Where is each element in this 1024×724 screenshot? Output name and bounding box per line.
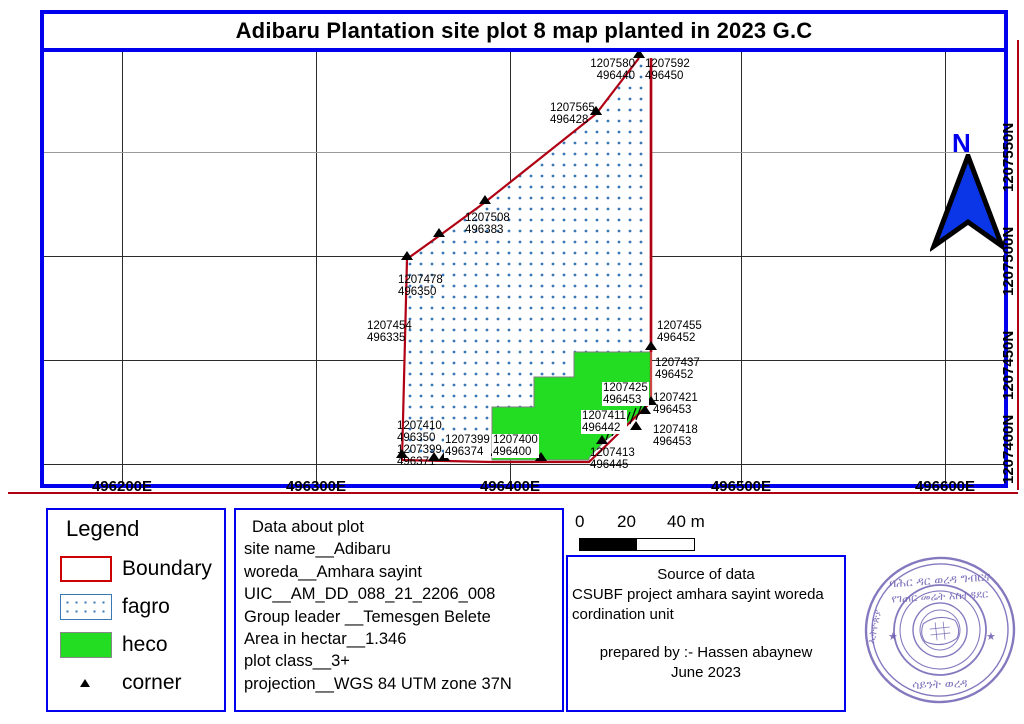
plot-data-line: Area in hectar__1.346 (244, 628, 562, 650)
legend-item-boundary[interactable]: Boundary (60, 556, 212, 582)
vertex-label: 1207411496442 (581, 410, 627, 434)
plot-data-line: UIC__AM_DD_088_21_2206_008 (244, 583, 562, 605)
legend-panel: Legend Boundary fagro heco corner (46, 508, 226, 712)
scale-bar: 0 20 40 m (575, 512, 755, 558)
corner-marker-icon (433, 228, 445, 237)
legend-item-label: Boundary (122, 557, 212, 581)
plot-polygons (44, 52, 1004, 484)
corner-marker-icon (639, 405, 651, 414)
plot-data-line: projection__WGS 84 UTM zone 37N (244, 673, 562, 695)
legend-title: Legend (66, 516, 139, 542)
corner-marker-icon (479, 195, 491, 204)
svg-text:★: ★ (986, 630, 996, 643)
source-panel: Source of data CSUBF project amhara sayi… (566, 555, 846, 712)
vertex-label: 1207592496450 (644, 58, 691, 82)
map-title-bar: Adibaru Plantation site plot 8 map plant… (44, 14, 1004, 52)
y-axis-tick: 1207450N (1000, 331, 1017, 400)
plot-data-line: Group leader __Temesgen Belete (244, 606, 562, 628)
source-line: CSUBF project amhara sayint woreda (572, 585, 840, 605)
plot-data-heading: Data about plot (244, 516, 562, 538)
scale-bar-segment (580, 539, 637, 550)
vertex-label: 1207454496335 (366, 320, 413, 344)
layout-rule-right (1017, 40, 1019, 490)
y-axis-tick: 1207550N (1000, 123, 1017, 192)
plot-data-line: site name__Adibaru (244, 538, 562, 560)
vertex-label: 1207425496453 (602, 382, 649, 406)
legend-item-heco[interactable]: heco (60, 632, 168, 658)
vertex-label: 1207437496452 (654, 357, 701, 381)
corner-marker-icon (630, 421, 642, 430)
scale-bar-graphic (579, 538, 695, 551)
scale-bar-segment (637, 539, 694, 550)
vertex-label: 1207418496453 (652, 424, 699, 448)
north-arrow: N (930, 132, 1004, 252)
map-canvas[interactable]: 1207592496450 1207580496440 120756549642… (44, 52, 1004, 484)
svg-text:★: ★ (888, 630, 898, 643)
prepared-by: prepared by :- Hassen abaynew (572, 643, 840, 663)
scale-tick-20: 20 (617, 512, 636, 532)
vertex-label: 1207565496428 (549, 102, 596, 126)
vertex-label: 1207399496371 (396, 444, 443, 468)
heco-swatch (60, 632, 112, 658)
vertex-label: 1207580496440 (544, 58, 636, 82)
prepared-date: June 2023 (572, 663, 840, 683)
source-heading: Source of data (572, 565, 840, 585)
legend-item-corner[interactable]: corner (60, 670, 182, 696)
legend-item-label: heco (122, 633, 168, 657)
scale-tick-0: 0 (575, 512, 584, 532)
plot-data-line: woreda__Amhara sayint (244, 561, 562, 583)
corner-marker-icon (60, 670, 112, 696)
vertex-label: 1207399496374 (444, 434, 491, 458)
source-line: cordination unit (572, 605, 840, 625)
plot-data-line: plot class__3+ (244, 650, 562, 672)
legend-item-label: corner (122, 671, 182, 695)
legend-item-label: fagro (122, 595, 170, 619)
corner-marker-icon (596, 435, 608, 444)
y-axis-tick: 1207400N (1000, 415, 1017, 484)
fagro-swatch (60, 594, 112, 620)
corner-marker-icon (401, 251, 413, 260)
official-seal-stamp: ባሕር ዳር ወረዳ ግብርና የገጠር መሬት አስተዳደር ሳይንት ወረዳ… (858, 548, 1022, 712)
vertex-label: 1207478496350 (397, 274, 444, 298)
svg-text:የገጠር መሬት አስተዳደር: የገጠር መሬት አስተዳደር (891, 587, 988, 605)
vertex-label: 1207413496445 (589, 447, 636, 471)
vertex-label: 1207508496383 (464, 212, 511, 236)
legend-item-fagro[interactable]: fagro (60, 594, 170, 620)
layout-rule-bottom (8, 492, 1018, 494)
vertex-label: 1207410496350 (396, 420, 443, 444)
svg-text:ሳይንት ወረዳ: ሳይንት ወረዳ (912, 676, 968, 692)
vertex-label: 1207400496400 (492, 434, 539, 458)
boundary-swatch (60, 556, 112, 582)
vertex-label: 1207455496452 (656, 320, 703, 344)
y-axis-tick: 1207500N (1000, 227, 1017, 296)
vertex-label: 1207421496453 (652, 392, 699, 416)
plot-data-panel: Data about plot site name__Adibaru wored… (234, 508, 564, 712)
page-title: Adibaru Plantation site plot 8 map plant… (236, 18, 813, 44)
scale-tick-40: 40 m (667, 512, 705, 532)
